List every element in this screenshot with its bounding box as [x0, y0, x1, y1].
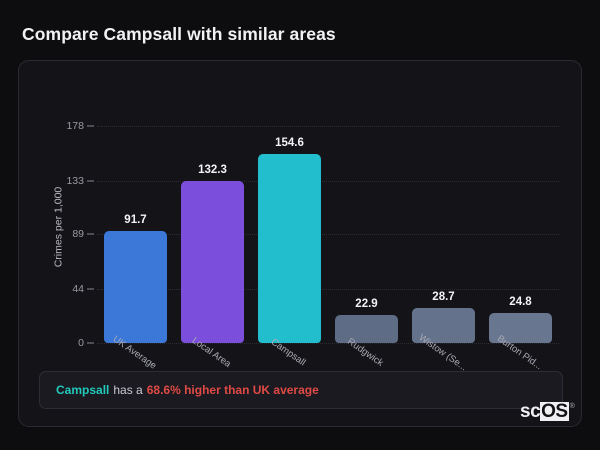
bar-group[interactable]: 24.8Burton Pid... — [489, 111, 552, 343]
chart-bar[interactable] — [335, 315, 398, 343]
bar-group[interactable]: 91.7UK Average — [104, 111, 167, 343]
chart-bar[interactable] — [181, 181, 244, 343]
bar-value-label: 154.6 — [258, 137, 321, 149]
y-gridline — [97, 343, 559, 344]
insight-connector: has a — [113, 383, 142, 397]
bar-value-label: 132.3 — [181, 164, 244, 176]
y-tick-mark — [87, 180, 94, 181]
insight-banner: Campsall has a 68.6% higher than UK aver… — [39, 371, 563, 409]
bar-group[interactable]: 28.7Wistow (Se... — [412, 111, 475, 343]
page-title: Compare Campsall with similar areas — [22, 24, 336, 45]
y-tick-label: 178 — [66, 120, 84, 132]
bar-group[interactable]: 132.3Local Area — [181, 111, 244, 343]
y-axis-title: Crimes per 1,000 — [50, 111, 66, 343]
bar-group[interactable]: 154.6Campsall — [258, 111, 321, 343]
y-tick-mark — [87, 343, 94, 344]
y-tick-label: 0 — [78, 337, 84, 349]
y-tick-mark — [87, 289, 94, 290]
y-axis-title-label: Crimes per 1,000 — [52, 187, 64, 268]
registered-trademark-icon: ® — [570, 403, 575, 410]
bar-group[interactable]: 22.9Rudgwick — [335, 111, 398, 343]
insight-comparison: 68.6% higher than UK average — [147, 383, 319, 397]
y-tick-label: 133 — [66, 175, 84, 187]
bar-value-label: 22.9 — [335, 298, 398, 310]
chart-bar[interactable] — [258, 154, 321, 343]
bar-value-label: 24.8 — [489, 296, 552, 308]
chart-bar[interactable] — [104, 231, 167, 343]
scos-watermark: sc OS ® — [520, 402, 574, 421]
insight-area-name: Campsall — [56, 383, 109, 397]
chart-plot-area: 0448913317891.7UK Average132.3Local Area… — [97, 111, 559, 343]
watermark-prefix: sc — [520, 402, 540, 421]
y-tick-label: 44 — [72, 283, 84, 295]
y-tick-mark — [87, 234, 94, 235]
watermark-suffix: OS — [540, 402, 568, 421]
y-tick-mark — [87, 125, 94, 126]
bar-value-label: 28.7 — [412, 291, 475, 303]
bar-value-label: 91.7 — [104, 214, 167, 226]
comparison-chart-card: Crimes per 1,000 0448913317891.7UK Avera… — [18, 60, 582, 427]
y-tick-label: 89 — [72, 228, 84, 240]
